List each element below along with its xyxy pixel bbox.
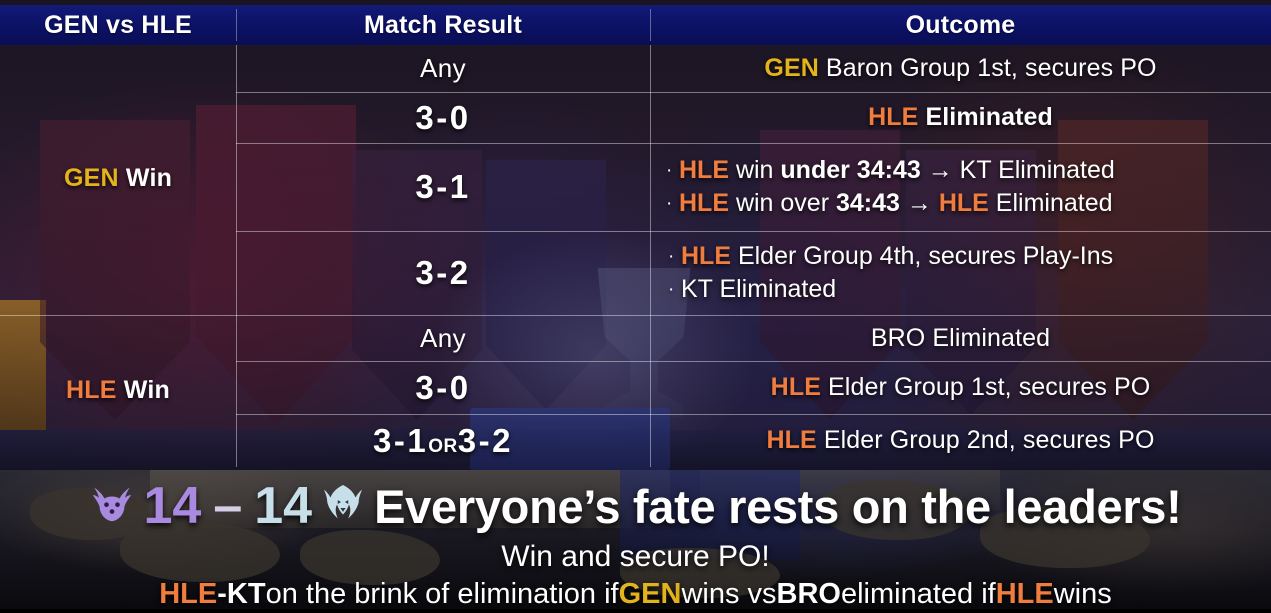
footer-seg: eliminated if [841, 578, 996, 611]
outcome-seg: win over [729, 189, 836, 217]
outcome-seg: KT Eliminated [681, 275, 836, 303]
outcome-rest: Eliminated [918, 103, 1052, 131]
banner-headline: Everyone’s fate rests on the leaders! [374, 479, 1181, 534]
section-label-rest: Win [119, 164, 172, 192]
header-divider [650, 9, 651, 41]
footer-seg: wins [1054, 578, 1112, 611]
footer-tag-bro: BRO [777, 578, 841, 611]
outcome-seg: win [729, 156, 780, 184]
outcome-rest: Elder Group 2nd, secures PO [817, 426, 1155, 454]
dk-dragon-logo-icon [322, 483, 364, 530]
outcome-rest: Elder Group 1st, secures PO [821, 373, 1150, 401]
banner-footer-note: HLE-KT on the brink of elimination if GE… [0, 575, 1271, 613]
team-tag-hle: HLE [868, 103, 918, 131]
bro-demon-logo-icon [90, 482, 134, 531]
score-separator: – [213, 476, 242, 536]
bottom-summary-banner: 14 – 14 Everyone’s fate rests on the lea… [0, 470, 1271, 609]
match-result-value: 3-1OR3-2 [373, 422, 513, 460]
outcome-seg: Elder Group 4th, secures Play-Ins [731, 242, 1113, 270]
match-result-right: 3-2 [458, 422, 513, 459]
outcome-text: HLE Eliminated [868, 103, 1053, 132]
outcome-cell: HLE Elder Group 2nd, secures PO [650, 414, 1271, 467]
team-tag-hle: HLE [681, 242, 731, 270]
footer-seg: wins vs [681, 578, 776, 611]
outcome-rest: Baron Group 1st, secures PO [819, 54, 1157, 82]
outcome-cell: BRO Eliminated [650, 316, 1271, 361]
team-tag-hle: HLE [679, 189, 729, 217]
header-divider [236, 9, 237, 41]
match-result-value: Any [420, 53, 466, 84]
match-result-cell: Any [236, 45, 650, 92]
outcome-text: BRO Eliminated [871, 324, 1050, 353]
outcome-time: under 34:43 [780, 156, 920, 184]
outcome-cell: HLE Eliminated [650, 92, 1271, 143]
header-outcome: Outcome [650, 11, 1271, 40]
match-result-cell: 3-1 [236, 143, 650, 231]
match-result-left: 3-1 [373, 422, 428, 459]
outcome-bullet-list: ·HLE win under 34:43 → KT Eliminated ·HL… [666, 156, 1115, 218]
section-label-hle-win: HLE Win [0, 362, 236, 418]
section-label-gen-win: GEN Win [0, 150, 236, 206]
outcome-bullet-item: ·HLE win over 34:43 → HLE Eliminated [666, 189, 1115, 218]
outcome-bullet-list: ·HLE Elder Group 4th, secures Play-Ins ·… [668, 242, 1113, 304]
section-label-team: GEN [64, 164, 119, 192]
header-matchup: GEN vs HLE [0, 11, 236, 40]
match-result-cell: 3-0 [236, 92, 650, 143]
outcome-cell: HLE Elder Group 1st, secures PO [650, 361, 1271, 414]
team-tag-hle: HLE [679, 156, 729, 184]
match-result-or: OR [428, 436, 458, 457]
outcome-text: GEN Baron Group 1st, secures PO [764, 54, 1156, 83]
outcome-bullet-item: ·KT Eliminated [668, 275, 1113, 304]
banner-headline-row: 14 – 14 Everyone’s fate rests on the lea… [0, 472, 1271, 540]
outcome-bullet-item: ·HLE win under 34:43 → KT Eliminated [666, 156, 1115, 185]
outcome-cell: ·HLE win under 34:43 → KT Eliminated ·HL… [666, 143, 1271, 231]
footer-seg: on the brink of elimination if [266, 578, 619, 611]
footer-seg: - [217, 578, 227, 611]
footer-tag-kt: KT [227, 578, 266, 611]
match-result-cell: 3-1OR3-2 [236, 414, 650, 467]
bullet-icon: · [668, 246, 681, 268]
match-result-value: 3-0 [415, 99, 470, 137]
score-right: 14 [254, 476, 312, 536]
section-label-team: HLE [66, 376, 117, 404]
match-result-cell: 3-2 [236, 231, 650, 315]
match-result-cell: 3-0 [236, 361, 650, 414]
outcome-bullet-item: ·HLE Elder Group 4th, secures Play-Ins [668, 242, 1113, 271]
outcome-cell: GEN Baron Group 1st, secures PO [650, 45, 1271, 92]
match-result-value: 3-2 [415, 254, 470, 292]
outcome-time: 34:43 [836, 189, 900, 217]
outcome-seg: → KT Eliminated [921, 156, 1115, 184]
bullet-icon: · [668, 279, 681, 301]
match-result-value: 3-1 [415, 168, 470, 206]
outcome-seg: → [900, 189, 939, 217]
banner-subline: Win and secure PO! [0, 536, 1271, 578]
bullet-icon: · [666, 160, 679, 182]
table-header-row: GEN vs HLE Match Result Outcome [0, 5, 1271, 45]
outcome-text: HLE Elder Group 2nd, secures PO [767, 426, 1155, 455]
outcome-cell: ·HLE Elder Group 4th, secures Play-Ins ·… [668, 231, 1271, 315]
team-tag-hle: HLE [767, 426, 817, 454]
match-result-value: Any [420, 323, 466, 354]
score-left: 14 [144, 476, 202, 536]
footer-tag-hle: HLE [159, 578, 217, 611]
scenarios-table: GEN vs HLE Match Result Outcome GEN Win … [0, 0, 1271, 470]
bullet-icon: · [666, 193, 679, 215]
team-tag-hle: HLE [939, 189, 989, 217]
footer-tag-gen: GEN [619, 578, 682, 611]
team-tag-gen: GEN [764, 54, 818, 82]
header-match-result: Match Result [236, 11, 650, 40]
section-label-rest: Win [117, 376, 170, 404]
outcome-seg: Eliminated [989, 189, 1113, 217]
match-result-value: 3-0 [415, 369, 470, 407]
team-tag-hle: HLE [771, 373, 821, 401]
outcome-text: HLE Elder Group 1st, secures PO [771, 373, 1151, 402]
match-result-cell: Any [236, 316, 650, 361]
footer-tag-hle: HLE [996, 578, 1054, 611]
